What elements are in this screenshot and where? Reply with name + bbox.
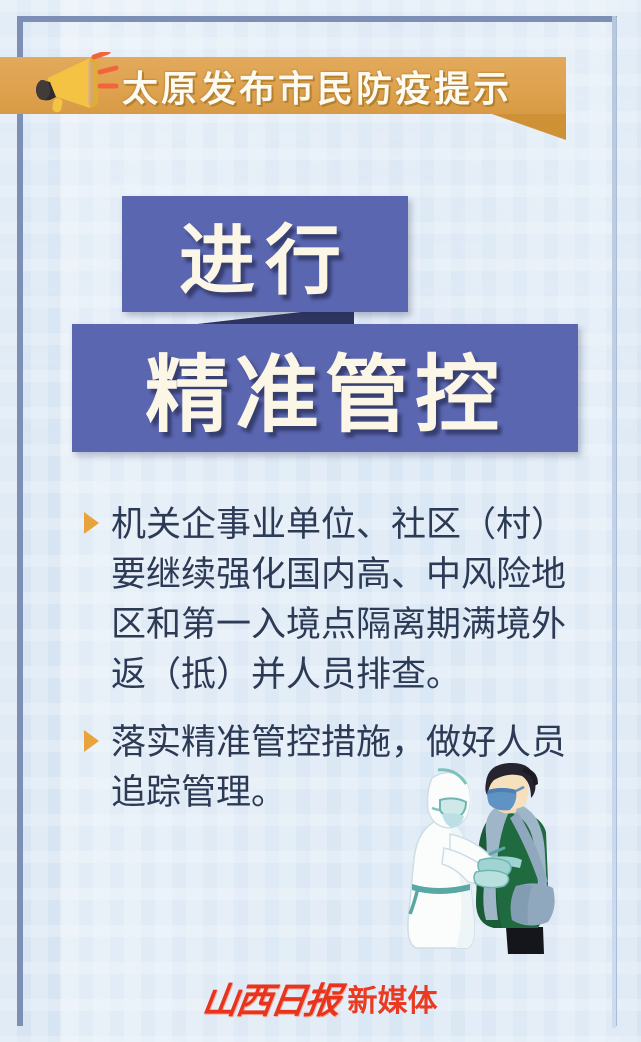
triangle-right-icon [84,512,99,534]
list-item-text: 机关企事业单位、社区（村）要继续强化国内高、中风险地区和第一入境点隔离期满境外返… [111,500,594,700]
header-title: 太原发布市民防疫提示 [122,57,512,114]
publisher-logo-secondary: 新媒体 [348,976,438,1020]
headline-line-1: 进行 [179,199,351,309]
health-worker-interviewing-citizen-illustration [398,762,613,967]
header-banner-ribbon-tail [492,114,566,140]
megaphone-icon [28,52,120,124]
poster-root: 太原发布市民防疫提示 进行 精准管控 机关企事业单位、社区（村）要继续强化国内高… [0,0,641,1042]
publisher-logo: 山西日报 新媒体 [0,975,641,1021]
triangle-right-icon [84,730,99,752]
list-item: 机关企事业单位、社区（村）要继续强化国内高、中风险地区和第一入境点隔离期满境外返… [84,500,594,700]
headline-box-secondary: 精准管控 [72,324,578,452]
publisher-logo-primary: 山西日报 [200,972,343,1024]
headline-box-primary: 进行 [122,196,408,312]
headline-line-2: 精准管控 [145,328,505,449]
